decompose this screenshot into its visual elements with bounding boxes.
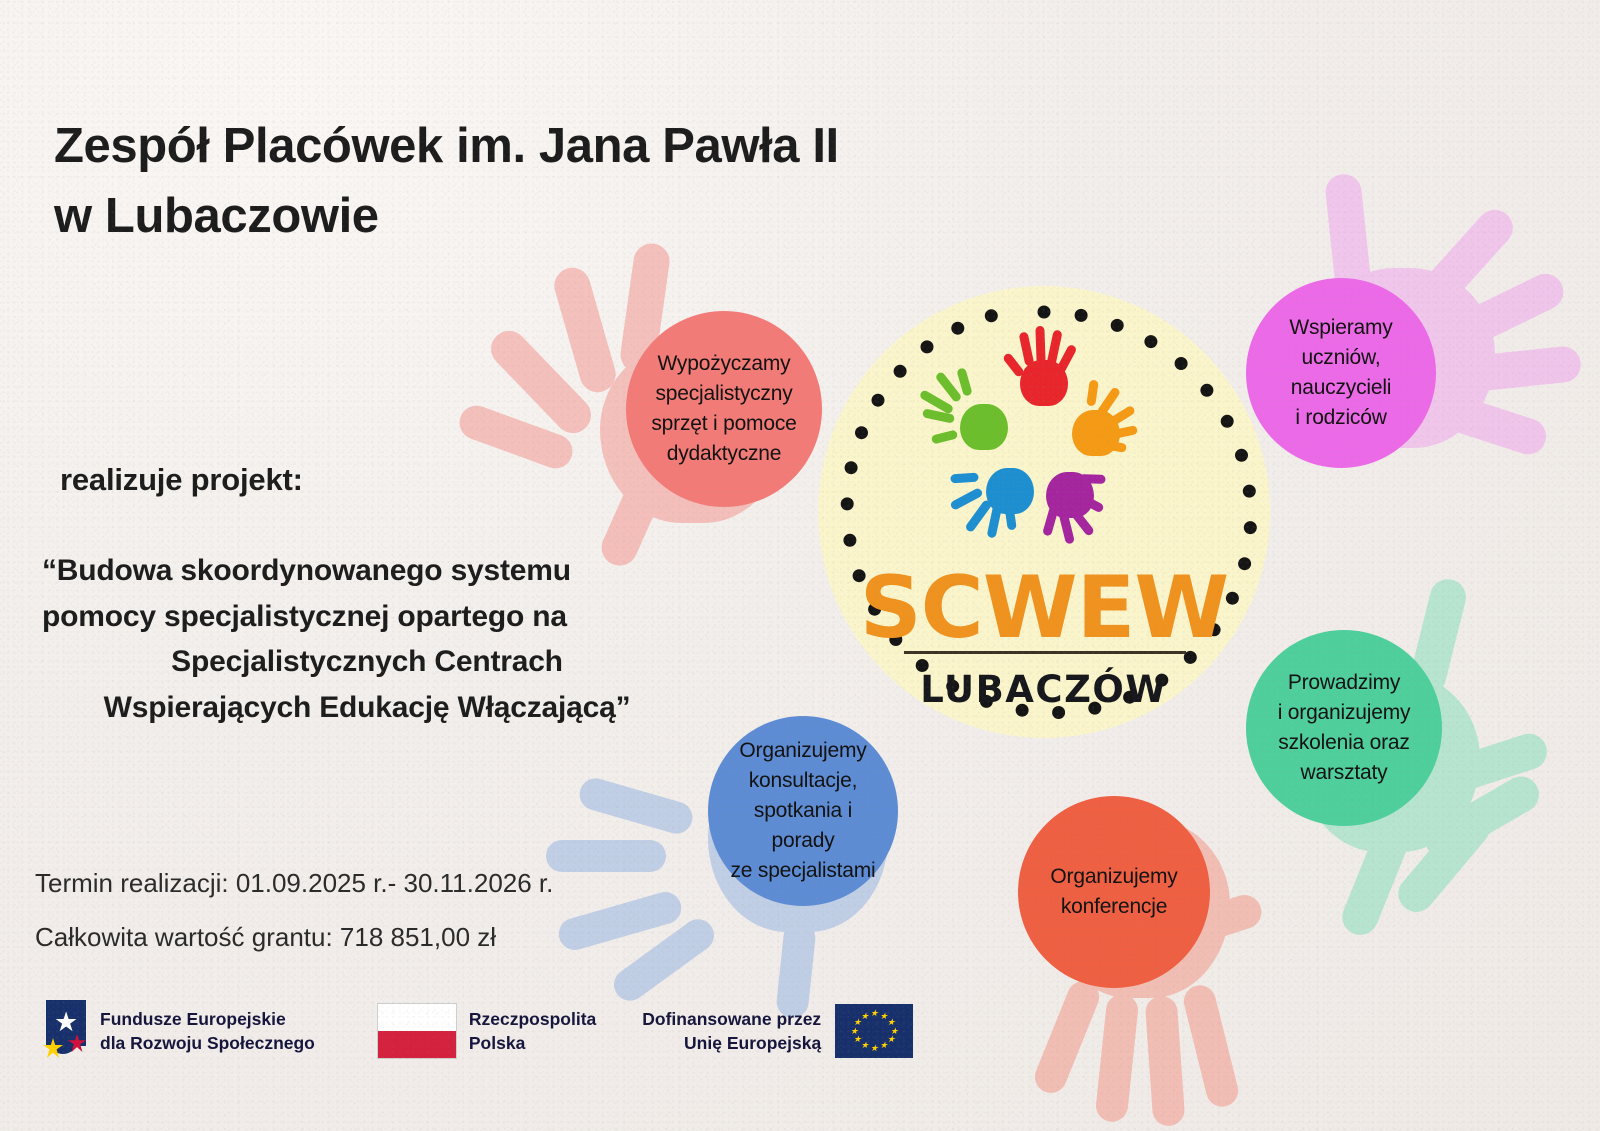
scwew-city: LUBACZÓW xyxy=(818,668,1270,711)
bubble-line: konsultacje, xyxy=(722,766,884,796)
project-term: Termin realizacji: 01.09.2025 r.- 30.11.… xyxy=(35,868,553,899)
bubble-line: i rodziców xyxy=(1289,403,1392,433)
project-title-line4: Wspierających Edukację Włączającą” xyxy=(42,685,692,731)
bubble-line: Prowadzimy xyxy=(1278,668,1411,698)
intro-label: realizuje projekt: xyxy=(60,462,303,498)
scwew-divider xyxy=(904,651,1186,654)
bubble-line: spotkania i porady xyxy=(722,796,884,856)
eu-funds-logo: ★ Fundusze Europejskie dla Rozwoju Społe… xyxy=(42,1000,315,1062)
bubble-line: Organizujemy xyxy=(1050,862,1177,892)
bubble-line: Organizujemy xyxy=(722,736,884,766)
scwew-acronym: SCWEW xyxy=(818,558,1270,658)
bubble-line: ze specjalistami xyxy=(722,856,884,886)
eu-funds-label: Fundusze Europejskie dla Rozwoju Społecz… xyxy=(100,1007,315,1055)
scwew-logo: SCWEW LUBACZÓW xyxy=(818,286,1270,738)
bubble-wypozyczamy: Wypożyczamy specjalistyczny sprzęt i pom… xyxy=(626,311,822,507)
page-title-line2: w Lubaczowie xyxy=(54,182,1034,252)
bubble-konferencje: Organizujemy konferencje xyxy=(1018,796,1210,988)
bubble-line: konferencje xyxy=(1050,892,1177,922)
funding-logos: ★ Fundusze Europejskie dla Rozwoju Społe… xyxy=(42,990,913,1072)
bubble-wspieramy: Wspieramy uczniów, nauczycieli i rodzicó… xyxy=(1246,278,1436,468)
project-value: Całkowita wartość grantu: 718 851,00 zł xyxy=(35,922,496,953)
poster: SCWEW LUBACZÓW Wypożyczamy specjalistycz… xyxy=(0,0,1600,1131)
page-title: Zespół Placówek im. Jana Pawła II w Luba… xyxy=(54,112,1034,251)
scwew-hands-icon xyxy=(930,338,1158,548)
project-title: “Budowa skoordynowanego systemu pomocy s… xyxy=(42,548,692,730)
bubble-prowadzimy: Prowadzimy i organizujemy szkolenia oraz… xyxy=(1246,630,1442,826)
bubble-line: uczniów, xyxy=(1289,343,1392,373)
project-title-line3: Specjalistycznych Centrach xyxy=(42,639,692,685)
bubble-konsultacje: Organizujemy konsultacje, spotkania i po… xyxy=(708,716,898,906)
bubble-line: Wypożyczamy xyxy=(651,349,796,379)
bubble-line: szkolenia oraz xyxy=(1278,728,1411,758)
bubble-line: sprzęt i pomoce xyxy=(651,409,796,439)
bubble-line: warsztaty xyxy=(1278,758,1411,788)
bubble-line: dydaktyczne xyxy=(651,439,796,469)
bubble-line: specjalistyczny xyxy=(651,379,796,409)
bubble-line: i organizujemy xyxy=(1278,698,1411,728)
republic-label: Rzeczpospolita Polska xyxy=(469,1007,596,1055)
poland-flag-icon xyxy=(377,1003,457,1059)
project-title-line1: “Budowa skoordynowanego systemu xyxy=(42,548,692,594)
bubble-line: Wspieramy xyxy=(1289,313,1392,343)
fundusze-europejskie-icon: ★ xyxy=(42,1000,90,1062)
page-title-line1: Zespół Placówek im. Jana Pawła II xyxy=(54,112,1034,182)
bubble-line: nauczycieli xyxy=(1289,373,1392,403)
cofinanced-label: Dofinansowane przez Unię Europejską xyxy=(642,1007,821,1055)
eu-flag-icon: ★ ★ ★ ★ ★ ★ ★ ★ ★ ★ ★ ★ xyxy=(835,1004,913,1058)
project-title-line2: pomocy specjalistycznej opartego na xyxy=(42,594,692,640)
